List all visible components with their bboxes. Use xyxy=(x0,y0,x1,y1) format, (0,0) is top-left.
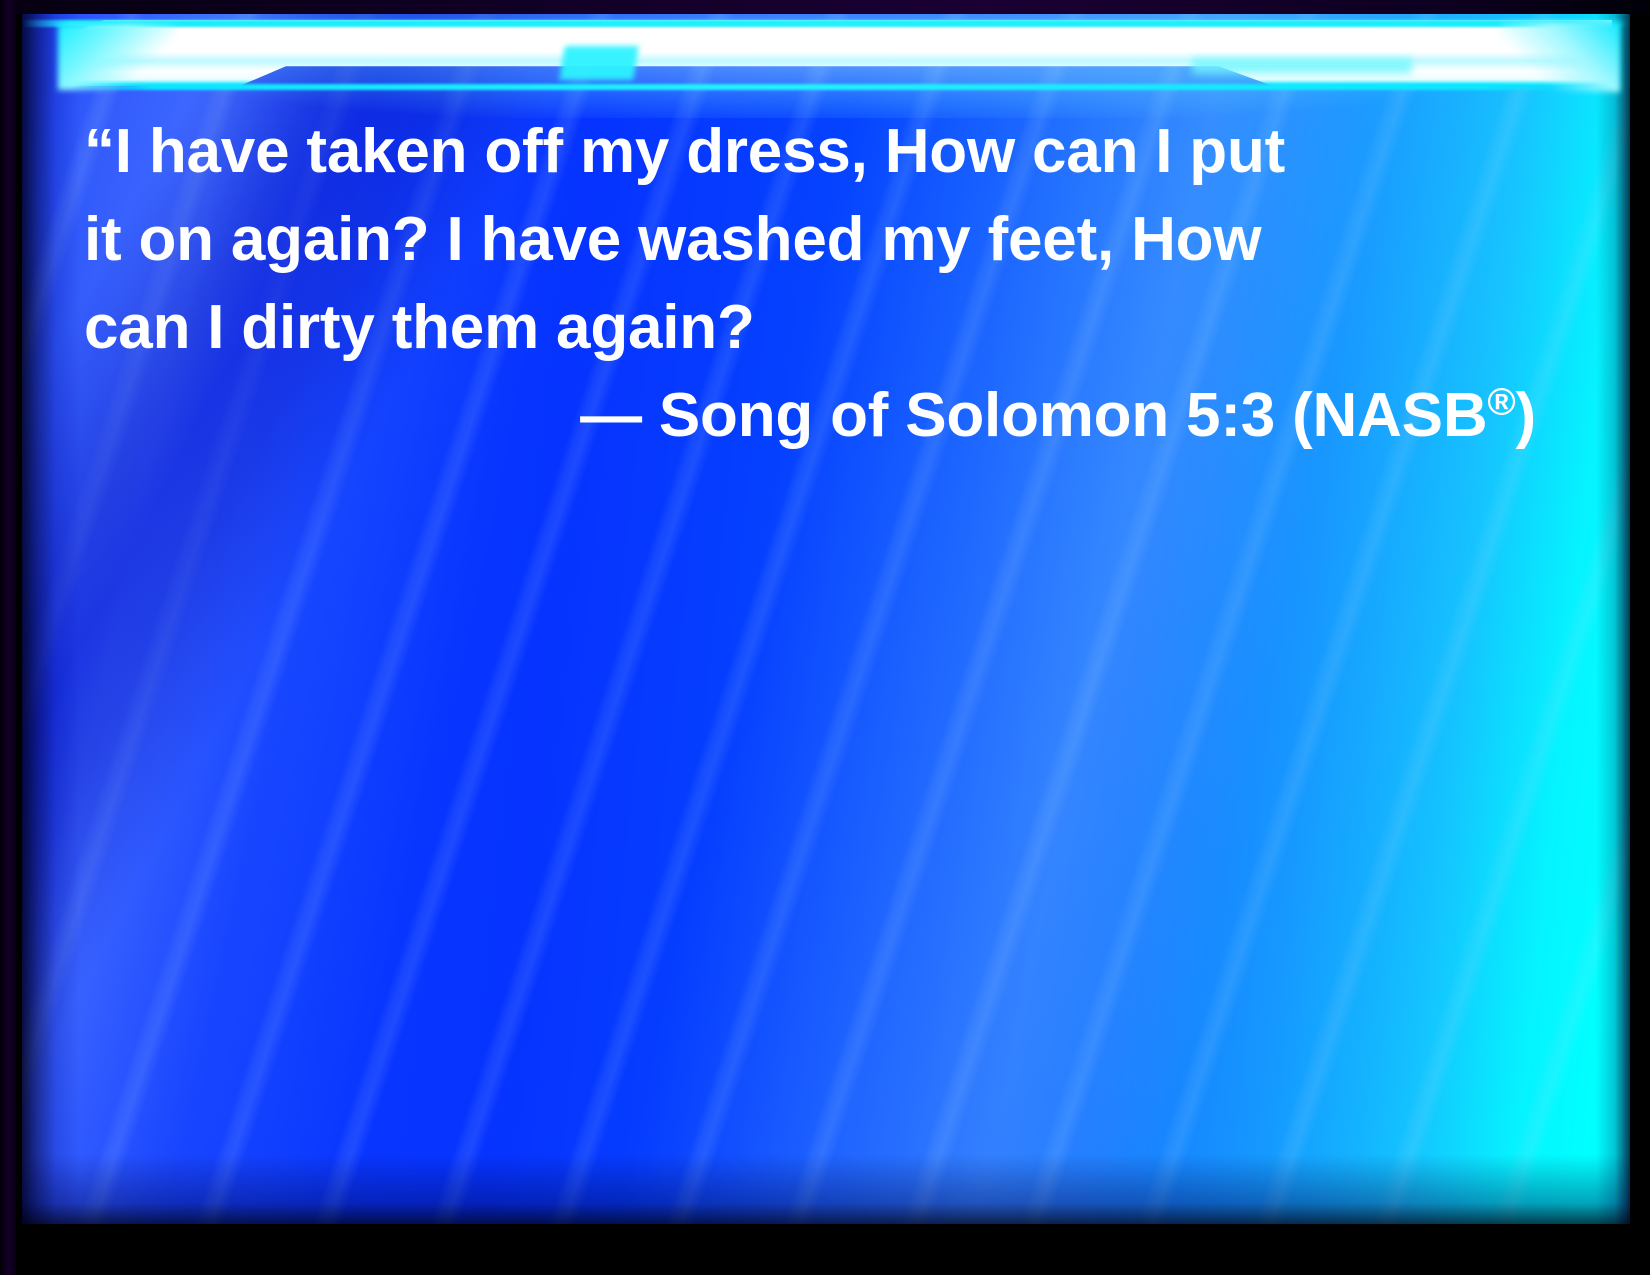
verse-attribution: — Song of Solomon 5:3 (NASB®) xyxy=(84,372,1544,460)
frame-top-edge-tint xyxy=(0,0,1650,14)
attribution-prefix: — Song of Solomon 5:3 (NASB xyxy=(580,381,1487,450)
verse-text-block: “I have taken off my dress, How can I pu… xyxy=(84,108,1544,460)
verse-line-1: “I have taken off my dress, How can I pu… xyxy=(84,108,1544,196)
slide-frame: “I have taken off my dress, How can I pu… xyxy=(0,0,1650,1275)
verse-line-3: can I dirty them again? xyxy=(84,284,1544,372)
verse-line-2: it on again? I have washed my feet, How xyxy=(84,196,1544,284)
frame-left-edge-tint xyxy=(0,0,16,1275)
background-left-shadow xyxy=(22,14,80,1224)
slide-canvas: “I have taken off my dress, How can I pu… xyxy=(22,14,1630,1224)
registered-trademark-icon: ® xyxy=(1487,380,1515,423)
background-right-shadow xyxy=(1596,14,1630,1224)
background-bottom-shadow xyxy=(22,1154,1630,1224)
attribution-suffix: ) xyxy=(1516,381,1536,450)
